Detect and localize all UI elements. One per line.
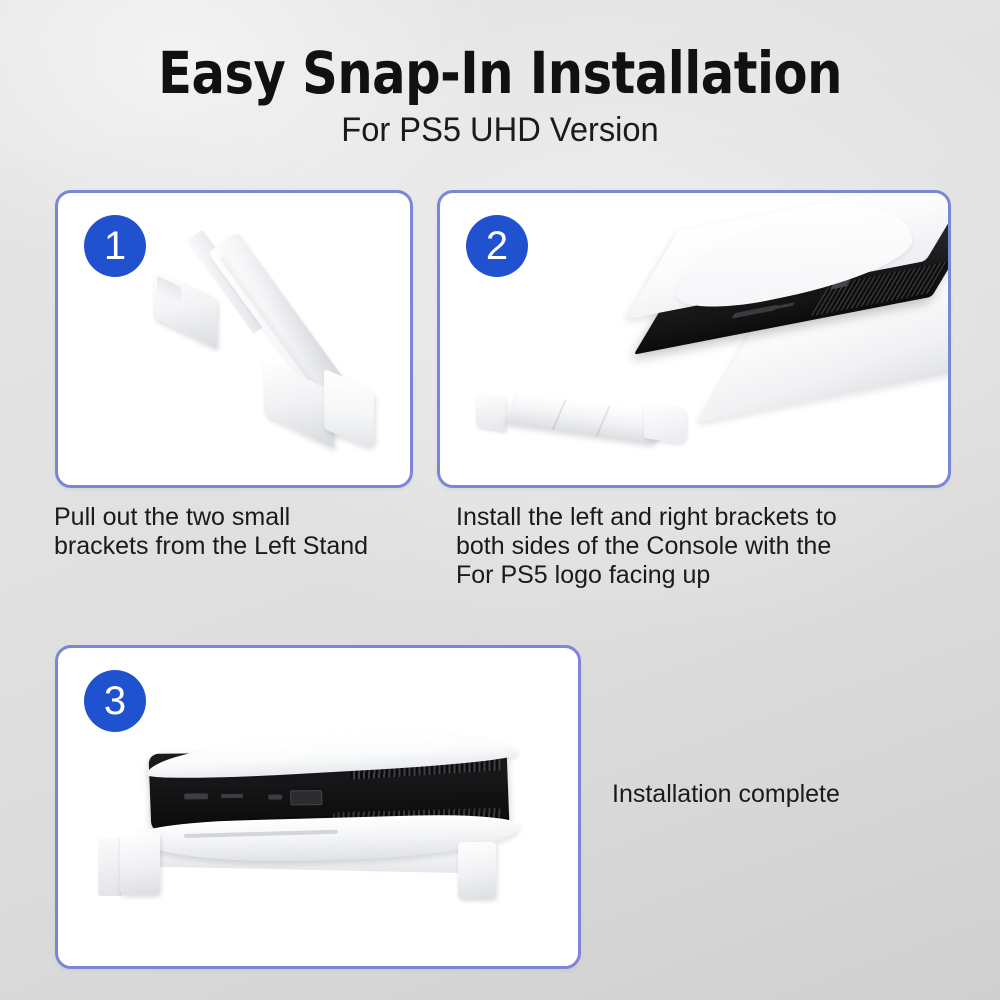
stand-foot-right — [458, 842, 496, 898]
page-title: Easy Snap-In Installation — [25, 42, 975, 104]
console-usb-ports-side — [184, 793, 208, 799]
console-bottom-groove — [184, 830, 338, 838]
step-1-card: 1 — [55, 190, 413, 488]
console-usb-ports — [731, 305, 778, 319]
step-3-badge: 3 — [84, 670, 146, 732]
step-2-caption: Install the left and right brackets to b… — [456, 503, 916, 590]
step-2-badge: 2 — [466, 215, 528, 277]
console-disc-slot — [290, 790, 323, 805]
page-subtitle: For PS5 UHD Version — [20, 110, 980, 150]
step-2-card: 2 — [437, 190, 951, 488]
console-power-button — [268, 794, 282, 799]
left-bracket-hook — [644, 402, 686, 444]
step-3-caption: Installation complete — [612, 780, 942, 809]
small-bracket-upper — [153, 267, 217, 348]
stand-foot-left — [120, 832, 160, 894]
infographic-page: Easy Snap-In Installation For PS5 UHD Ve… — [0, 0, 1000, 1000]
left-bracket-clip — [476, 392, 506, 431]
step-1-caption: Pull out the two small brackets from the… — [54, 503, 444, 561]
step-1-badge: 1 — [84, 215, 146, 277]
stand-foot-left-clip — [98, 838, 122, 896]
step-3-card: 3 — [55, 645, 581, 969]
